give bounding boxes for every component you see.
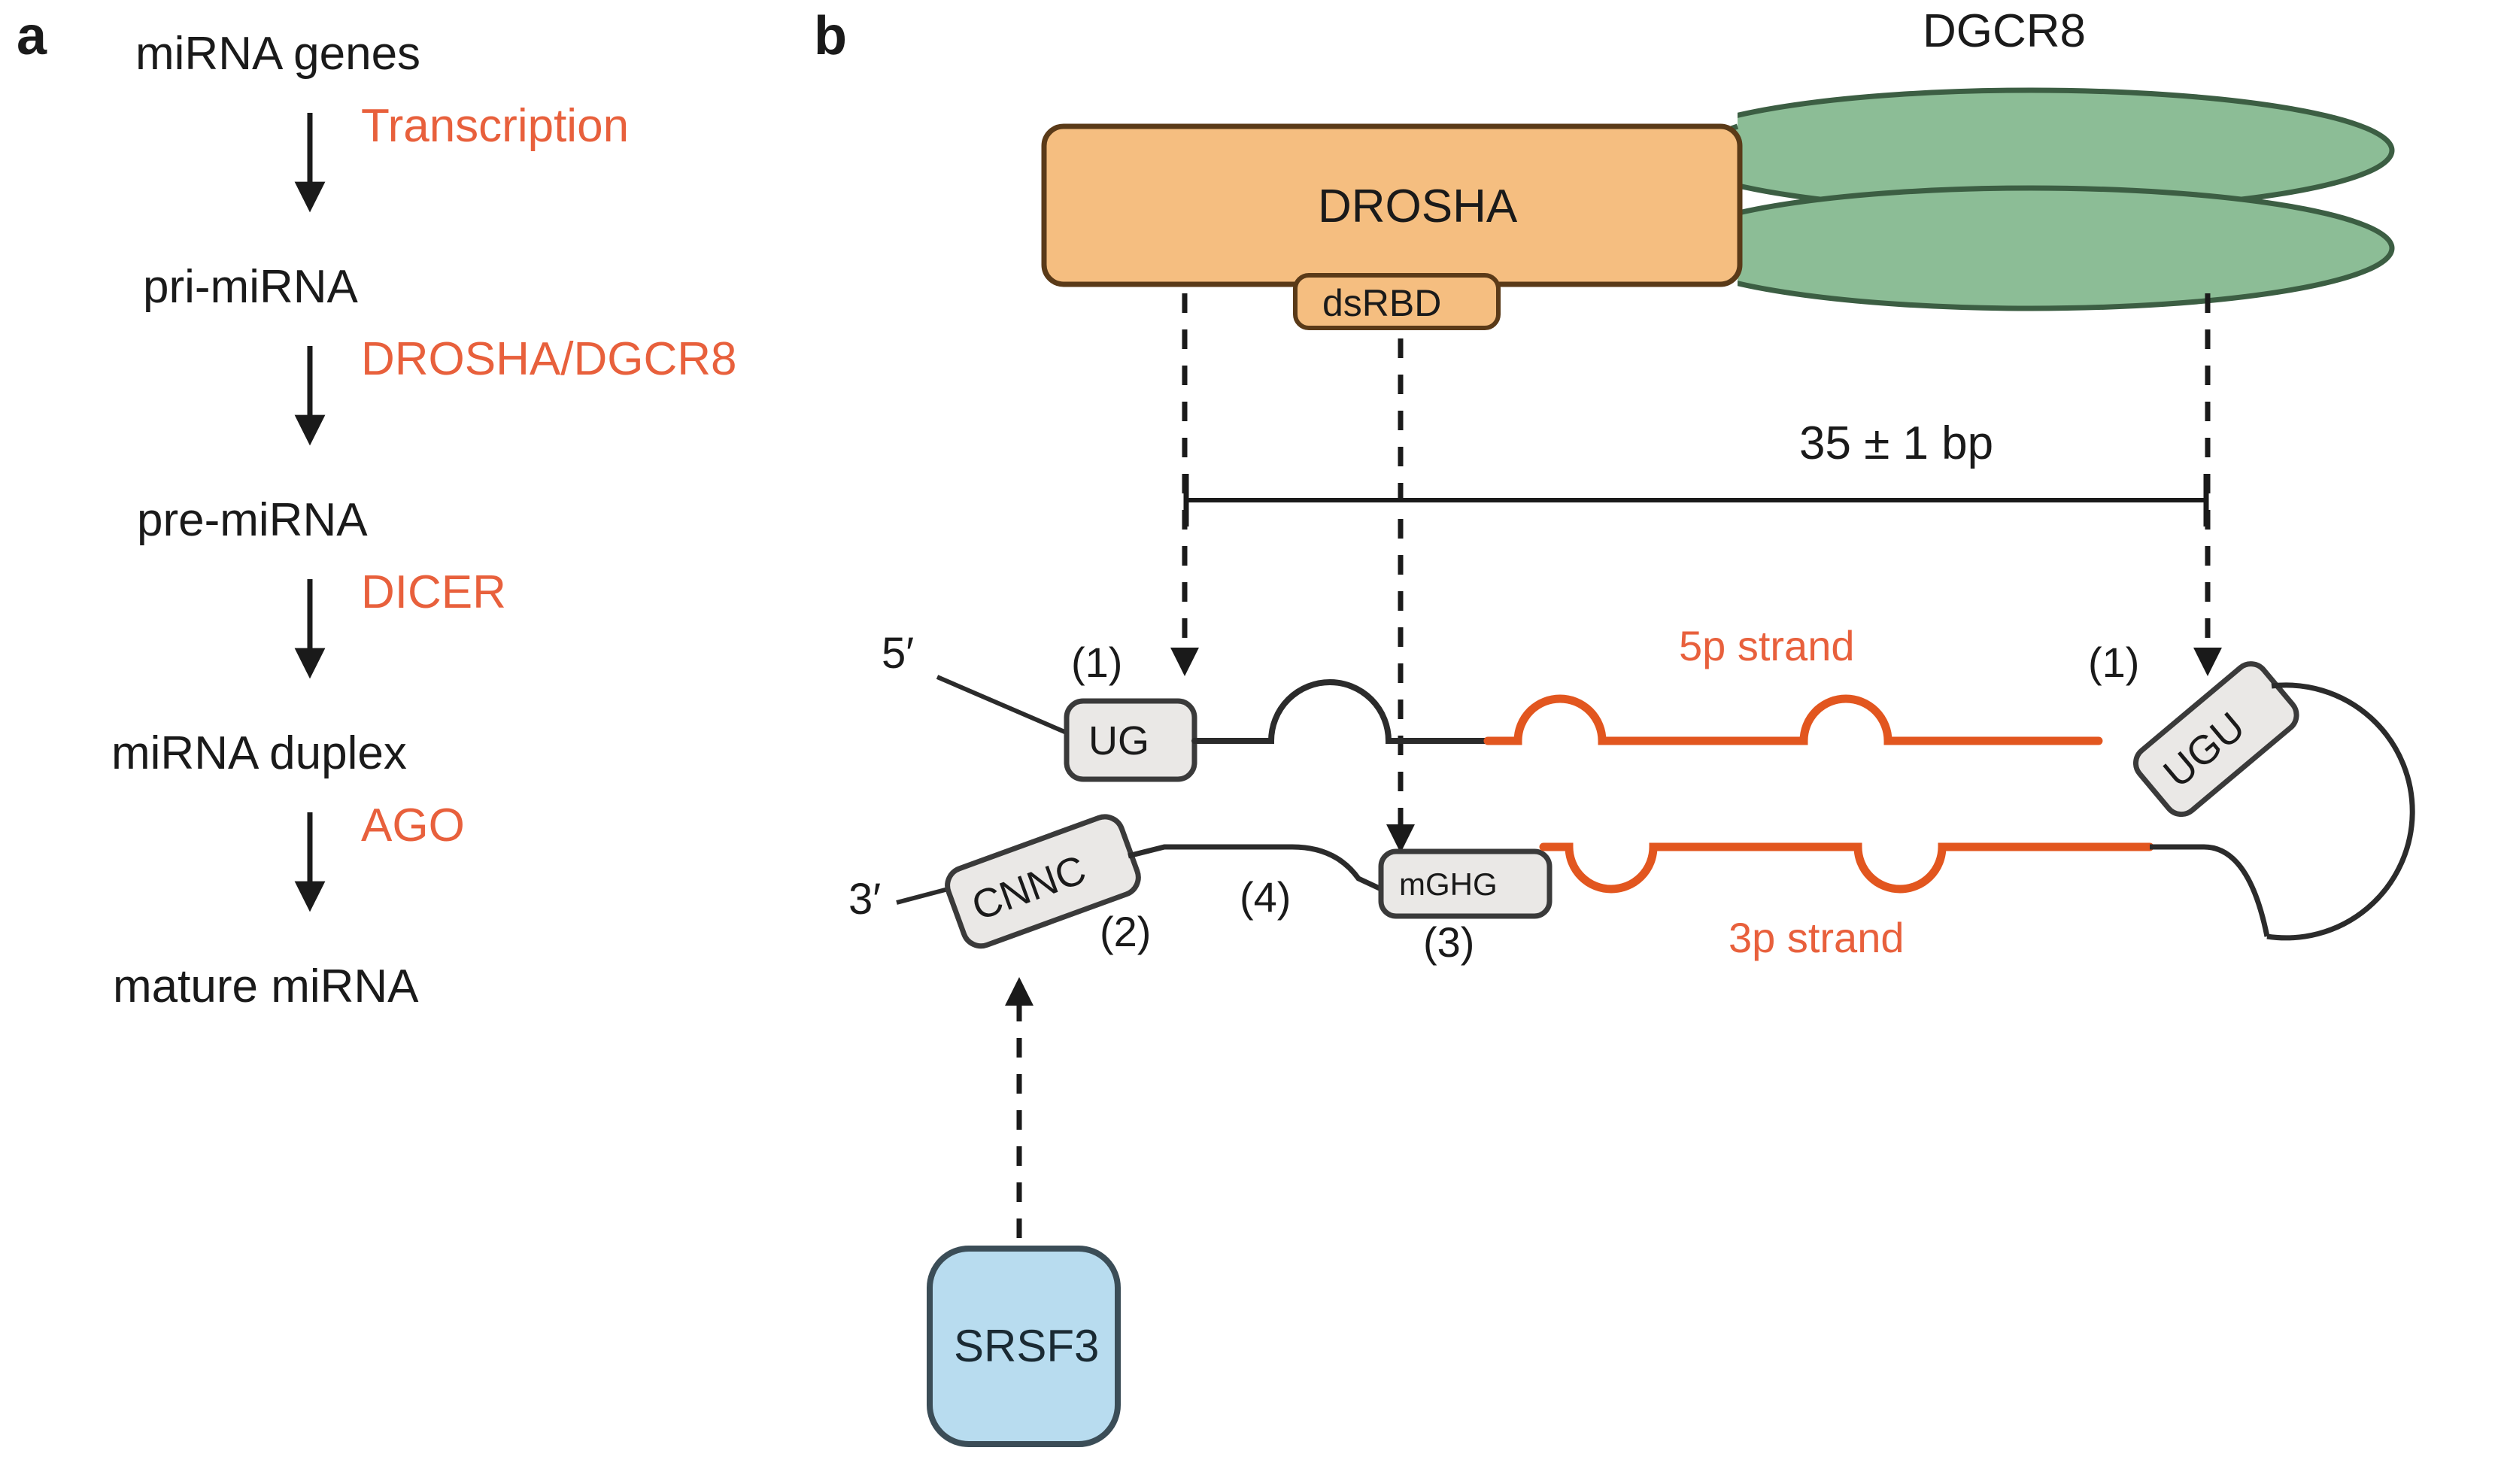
flow-node-mirna-duplex: miRNA duplex (111, 727, 407, 779)
ug-motif-label: UG (1088, 718, 1149, 763)
marker-4: (4) (1240, 873, 1291, 921)
dgcr8-label: DGCR8 (1923, 5, 2086, 57)
flow-enzyme-transcription: Transcription (361, 100, 629, 152)
ugu-motif-group: UGU (2129, 657, 2303, 821)
marker-1b: (1) (2088, 639, 2139, 686)
drosha-label: DROSHA (1318, 181, 1518, 232)
srsf3-label: SRSF3 (954, 1321, 1099, 1371)
five-p-strand-path (1488, 699, 2099, 741)
flow-node-mature-mirna: mature miRNA (113, 961, 419, 1012)
panel-b-letter: b (814, 6, 847, 66)
panel-a: a miRNA genes Transcription pri-miRNA DR… (17, 6, 737, 1012)
three-prime-end-label: 3′ (848, 875, 881, 924)
upper-strand-black (1194, 682, 1488, 741)
figure-svg: a miRNA genes Transcription pri-miRNA DR… (0, 0, 2498, 1484)
dsrbd-label: dsRBD (1322, 282, 1441, 324)
bp-measure: 35 ± 1 bp (1186, 417, 2206, 527)
three-prime-tail (897, 888, 954, 903)
marker-1a: (1) (1071, 639, 1122, 686)
panel-b: b DGCR8 DROSHA dsRBD (814, 5, 2412, 1444)
five-prime-end-label: 5′ (882, 629, 914, 678)
mghg-motif-label: mGHG (1399, 866, 1498, 902)
flow-node-mirna-genes: miRNA genes (135, 28, 420, 80)
marker-3: (3) (1423, 918, 1474, 966)
dgcr8-ellipse-bottom (1670, 188, 2392, 308)
dgcr8-ellipse-group (1670, 90, 2392, 308)
lower-strand-black-right (2150, 847, 2267, 936)
flow-enzyme-drosha-dgcr8: DROSHA/DGCR8 (361, 333, 737, 385)
five-prime-tail (937, 677, 1068, 733)
flow-enzyme-dicer: DICER (361, 566, 506, 618)
three-p-strand-path (1543, 847, 2150, 889)
flow-node-pre-mirna: pre-miRNA (137, 494, 368, 546)
marker-2: (2) (1100, 908, 1151, 955)
figure-canvas: a miRNA genes Transcription pri-miRNA DR… (0, 0, 2498, 1484)
flow-enzyme-ago: AGO (361, 800, 465, 851)
flow-node-pri-mirna: pri-miRNA (143, 261, 359, 313)
three-p-strand-label: 3p strand (1729, 914, 1905, 961)
panel-a-letter: a (17, 6, 47, 66)
bp-distance-label: 35 ± 1 bp (1799, 417, 1993, 469)
five-p-strand-label: 5p strand (1679, 622, 1855, 669)
